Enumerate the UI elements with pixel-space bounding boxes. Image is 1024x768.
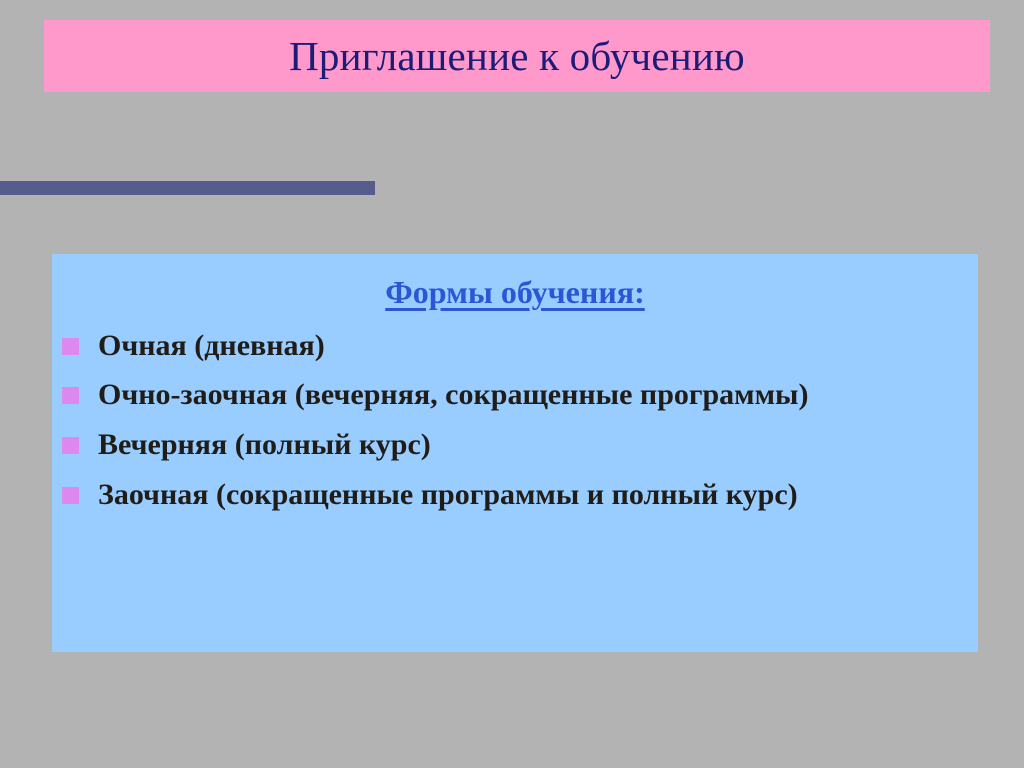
list-item-label: Вечерняя (полный курс) (98, 424, 431, 467)
list-item-label: Очно-заочная (вечерняя, сокращенные прог… (98, 374, 808, 417)
square-bullet-icon (62, 387, 79, 404)
square-bullet-icon (62, 437, 79, 454)
study-forms-list: Очная (дневная) Очно-заочная (вечерняя, … (52, 311, 978, 516)
slide-title: Приглашение к обучению (289, 36, 745, 77)
slide-title-band: Приглашение к обучению (44, 20, 990, 92)
content-panel: Формы обучения: Очная (дневная) Очно-зао… (52, 254, 978, 652)
square-bullet-icon (62, 338, 79, 355)
square-bullet-icon (62, 487, 79, 504)
accent-divider-bar (0, 181, 375, 195)
list-item: Вечерняя (полный курс) (62, 424, 952, 467)
list-item-label: Заочная (сокращенные программы и полный … (98, 474, 798, 517)
presentation-slide: Приглашение к обучению Формы обучения: О… (0, 0, 1024, 768)
list-item: Заочная (сокращенные программы и полный … (62, 474, 952, 517)
content-heading: Формы обучения: (52, 254, 978, 311)
list-item: Очная (дневная) (62, 325, 952, 368)
list-item-label: Очная (дневная) (98, 325, 325, 368)
content-heading-text: Формы обучения: (385, 274, 644, 310)
list-item: Очно-заочная (вечерняя, сокращенные прог… (62, 374, 952, 417)
